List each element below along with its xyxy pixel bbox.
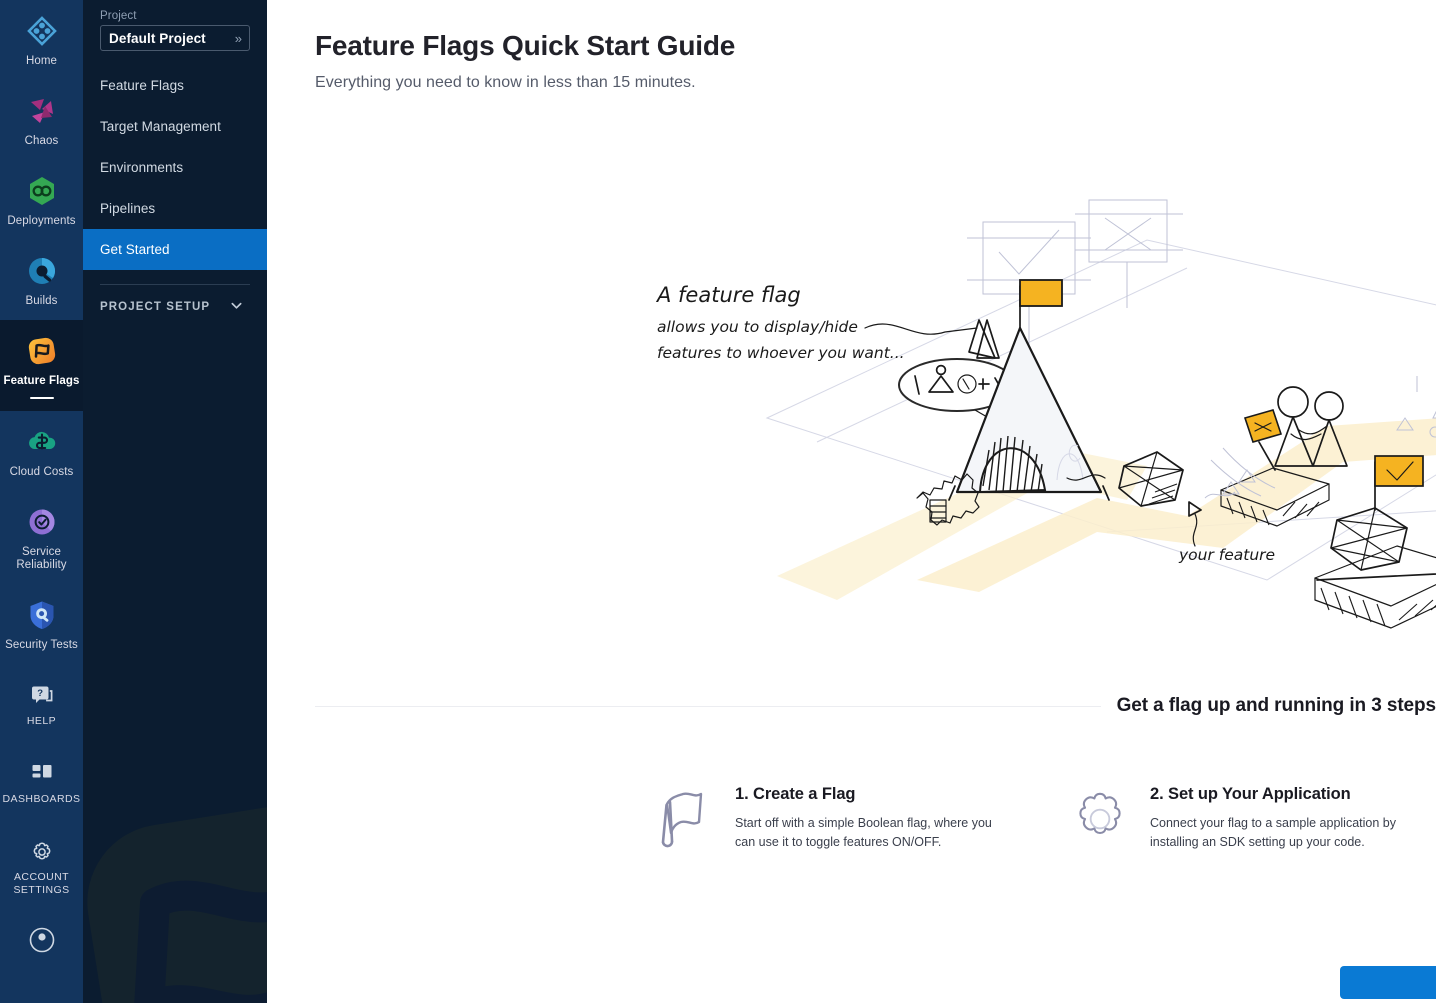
- page-header: Feature Flags Quick Start Guide Everythi…: [267, 0, 1436, 92]
- illustration-note-2: your feature: [1178, 546, 1275, 564]
- chevron-down-icon: [230, 299, 243, 315]
- help-icon: ?: [30, 684, 54, 708]
- flag-icon: [657, 785, 717, 854]
- module-rail: Home Chaos D: [0, 0, 83, 1003]
- sidebar-item-environments[interactable]: Environments: [83, 147, 267, 188]
- sidebar-item-target-management[interactable]: Target Management: [83, 106, 267, 147]
- active-module-underline: [30, 397, 54, 399]
- step-title: 1. Create a Flag: [735, 785, 993, 804]
- steps-section-title: Get a flag up and running in 3 steps: [1101, 695, 1436, 717]
- avatar: [29, 927, 55, 953]
- steps-list: 1. Create a Flag Start off with a simple…: [657, 785, 1436, 854]
- sidebar-section-label: PROJECT SETUP: [100, 301, 210, 313]
- module-item-label: ServiceReliability: [16, 546, 66, 572]
- home-diamond-icon: [25, 14, 59, 48]
- module-item-label: DASHBOARDS: [2, 793, 80, 806]
- gear-icon: [1072, 785, 1132, 854]
- module-item-feature-flags[interactable]: Feature Flags: [0, 320, 83, 411]
- svg-text:?: ?: [37, 688, 43, 699]
- cloud-costs-icon: [25, 425, 59, 459]
- module-item-label: Chaos: [25, 135, 59, 148]
- sidebar-item-label: Feature Flags: [100, 78, 184, 93]
- module-item-label: Builds: [26, 295, 58, 308]
- module-item-label: Feature Flags: [3, 375, 79, 388]
- illustration-platform-check: [1315, 456, 1436, 628]
- get-started-button[interactable]: Get Started: [1340, 966, 1436, 999]
- page-subtitle: Everything you need to know in less than…: [315, 74, 1436, 92]
- step-description: Connect your flag to a sample applicatio…: [1150, 814, 1408, 852]
- sidebar-item-label: Target Management: [100, 119, 221, 134]
- chevron-right-double-icon: »: [235, 32, 242, 45]
- module-item-account-settings[interactable]: ACCOUNTSETTINGS: [0, 818, 83, 909]
- sidebar-item-label: Environments: [100, 160, 183, 175]
- module-item-dashboards[interactable]: DASHBOARDS: [0, 740, 83, 818]
- project-nav: Project Default Project » Feature Flags …: [83, 0, 267, 1003]
- sidebar-item-pipelines[interactable]: Pipelines: [83, 188, 267, 229]
- illustration-figures-pair: [1275, 387, 1347, 466]
- module-item-service-reliability[interactable]: ServiceReliability: [0, 491, 83, 584]
- feature-flags-watermark-icon: [83, 793, 267, 1003]
- step-title: 2. Set up Your Application: [1150, 785, 1408, 804]
- module-item-cloud-costs[interactable]: Cloud Costs: [0, 411, 83, 491]
- module-item-security-tests[interactable]: Security Tests: [0, 584, 83, 664]
- dashboards-icon: [30, 762, 54, 786]
- illustration-platform-x: [1221, 410, 1329, 526]
- app-root: Home Chaos D: [0, 0, 1436, 1003]
- sidebar-item-label: Get Started: [100, 242, 170, 257]
- sidebar-section-project-setup[interactable]: PROJECT SETUP: [83, 285, 267, 329]
- section-divider-row: Get a flag up and running in 3 steps: [315, 695, 1436, 717]
- service-reliability-icon: [25, 505, 59, 539]
- illustration-polyhedron-1: [1119, 452, 1183, 506]
- divider-line: [315, 706, 1101, 707]
- step-create-a-flag: 1. Create a Flag Start off with a simple…: [657, 785, 1072, 854]
- feature-flags-icon: [25, 334, 59, 368]
- module-item-label: HELP: [27, 715, 56, 728]
- step-body: 1. Create a Flag Start off with a simple…: [735, 785, 993, 854]
- sidebar-item-feature-flags[interactable]: Feature Flags: [83, 65, 267, 106]
- illustration-gear-small: [917, 474, 979, 525]
- builds-icon: [25, 254, 59, 288]
- step-description: Start off with a simple Boolean flag, wh…: [735, 814, 993, 852]
- page-title: Feature Flags Quick Start Guide: [315, 30, 1436, 62]
- module-item-label: Deployments: [7, 215, 75, 228]
- svg-text:features to whoever you want..: features to whoever you want...: [657, 344, 905, 362]
- deployments-icon: [25, 174, 59, 208]
- module-item-builds[interactable]: Builds: [0, 240, 83, 320]
- module-item-home[interactable]: Home: [0, 0, 83, 80]
- module-item-label: Security Tests: [5, 639, 78, 652]
- module-item-label: Cloud Costs: [10, 466, 74, 479]
- project-label: Project: [83, 10, 267, 25]
- security-tests-icon: [25, 598, 59, 632]
- project-selector-value: Default Project: [109, 31, 206, 46]
- sidebar-item-get-started[interactable]: Get Started: [83, 229, 267, 270]
- module-item-user-avatar[interactable]: [0, 909, 83, 965]
- illustration-speech-bubble: [899, 359, 1017, 432]
- svg-text:A feature flag: A feature flag: [655, 283, 801, 307]
- step-body: 2. Set up Your Application Connect your …: [1150, 785, 1408, 854]
- illustration-tent: [949, 280, 1109, 500]
- gear-icon: [30, 840, 54, 864]
- module-item-label: ACCOUNTSETTINGS: [13, 871, 69, 897]
- sidebar-item-label: Pipelines: [100, 201, 155, 216]
- chaos-icon: [25, 94, 59, 128]
- module-item-help[interactable]: ? HELP: [0, 664, 83, 740]
- project-selector[interactable]: Default Project »: [100, 25, 250, 51]
- module-item-label: Home: [26, 55, 57, 68]
- step-set-up-your-application: 2. Set up Your Application Connect your …: [1072, 785, 1436, 854]
- hero-illustration: .ink { fill:none; stroke:#1a1a1a; stroke…: [627, 180, 1436, 650]
- module-item-chaos[interactable]: Chaos: [0, 80, 83, 160]
- illustration-note-1: A feature flag allows you to display/hid…: [655, 283, 905, 362]
- svg-text:allows you to display/hide: allows you to display/hide: [657, 318, 858, 336]
- module-item-deployments[interactable]: Deployments: [0, 160, 83, 240]
- main-content: Feature Flags Quick Start Guide Everythi…: [267, 0, 1436, 1003]
